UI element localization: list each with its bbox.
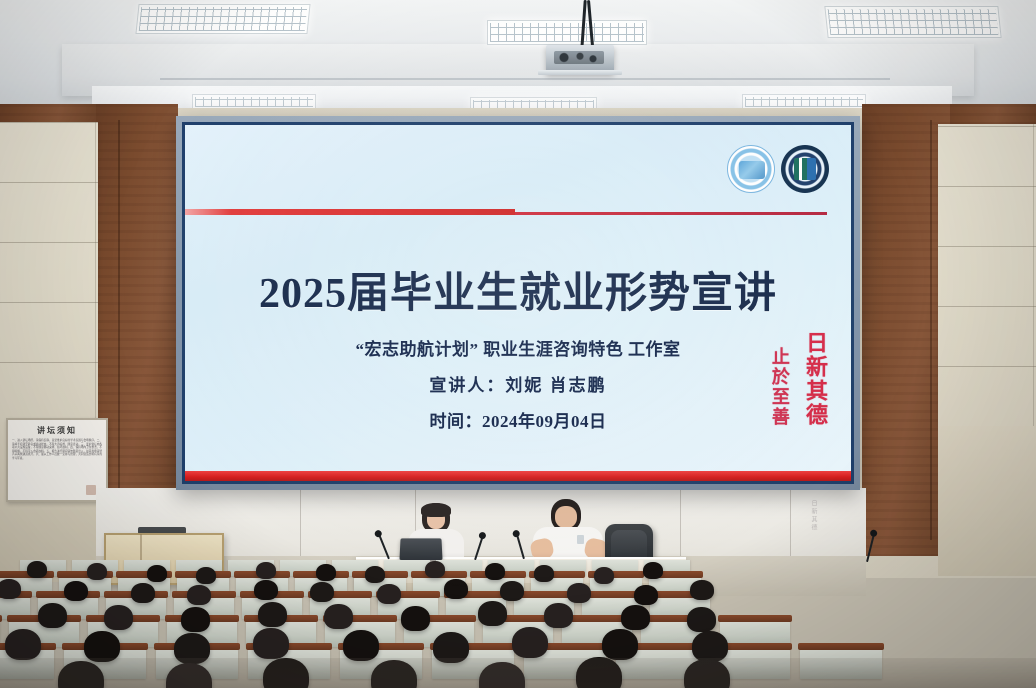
notice-seal-icon	[86, 485, 96, 495]
slide-subtitle-line-2: 宣讲人：刘妮 肖志鹏	[185, 371, 851, 396]
audience-member	[534, 565, 554, 582]
slide-footer-bar	[185, 471, 851, 481]
audience-member	[104, 605, 133, 630]
audience-member	[544, 603, 573, 628]
slide-subtitle-line-1: “宏志助航计划” 职业生涯咨询特色 工作室	[185, 335, 851, 360]
audience-member	[512, 627, 548, 658]
audience-member	[444, 579, 468, 599]
wood-column-left	[96, 104, 178, 554]
wood-seam	[118, 120, 120, 540]
audience-member	[401, 606, 430, 631]
railway-institute-emblem-icon	[727, 145, 775, 193]
audience-member	[316, 564, 336, 581]
audience-member	[87, 563, 107, 580]
audience-member	[643, 562, 663, 579]
audience-member	[253, 628, 289, 659]
calligraphy-column-left: 止於至善	[768, 331, 791, 427]
wood-column-right	[862, 104, 950, 556]
projector-mount-plate	[538, 70, 622, 75]
audience-member	[38, 603, 67, 628]
audience-member	[594, 567, 614, 584]
audience-member	[254, 580, 278, 600]
slide-title: 2025届毕业生就业形势宣讲	[185, 259, 851, 320]
aisle-floor	[0, 658, 1036, 688]
lower-wall-right	[938, 426, 1036, 576]
projector	[546, 45, 614, 73]
calligraphy-column-right: 日新其德	[801, 331, 829, 427]
audience-member	[310, 582, 334, 602]
ceiling-light-fixture	[824, 6, 1001, 38]
audience-member	[690, 580, 714, 600]
east-china-jiaotong-university-emblem-icon	[781, 145, 829, 193]
audience-member	[365, 566, 385, 583]
slide-accent-rule-thin	[515, 212, 827, 215]
wood-seam	[930, 120, 932, 540]
wood-beam-left	[0, 104, 98, 122]
slide-calligraphy: 日新其德 止於至善	[768, 331, 829, 427]
audience-member	[478, 601, 507, 626]
wood-beam-right	[938, 104, 1036, 124]
audience-member	[147, 565, 167, 582]
name-badge	[577, 535, 584, 544]
audience-member	[485, 563, 505, 580]
audience-member	[131, 583, 155, 603]
acoustic-panel-right	[938, 124, 1036, 426]
acoustic-panel-left	[0, 122, 98, 422]
audience-member	[256, 562, 276, 579]
audience-member	[258, 602, 287, 627]
audience-member	[687, 607, 716, 632]
ceiling-light-fixture	[135, 4, 310, 34]
audience-member	[0, 579, 21, 599]
audience-member	[621, 605, 650, 630]
ceiling-light-fixture	[487, 20, 647, 45]
wall-notice-body: 一、进入讲坛场所，请保持安静，自觉维护良好的学术氛围与会场秩序。二、请将手机调至…	[8, 439, 106, 461]
ceiling-seam	[160, 78, 890, 80]
slide-surface: 2025届毕业生就业形势宣讲 “宏志助航计划” 职业生涯咨询特色 工作室 宣讲人…	[182, 122, 854, 484]
wall-notice-title: 讲坛须知	[8, 425, 106, 436]
slide-subtitle-group: “宏志助航计划” 职业生涯咨询特色 工作室 宣讲人：刘妮 肖志鹏 时间：2024…	[185, 335, 851, 432]
slide-accent-rule-thick	[185, 209, 515, 215]
audience-member	[196, 567, 216, 584]
audience-member	[567, 583, 591, 603]
audience-member	[64, 581, 88, 601]
projection-screen: 2025届毕业生就业形势宣讲 “宏志助航计划” 职业生涯咨询特色 工作室 宣讲人…	[176, 116, 860, 490]
audience-member	[181, 607, 210, 632]
slide-subtitle-line-3: 时间：2024年09月04日	[185, 407, 851, 432]
audience-member	[5, 629, 41, 660]
audience-member	[425, 561, 445, 578]
audience-member	[602, 629, 638, 660]
audience-member	[27, 561, 47, 578]
lecture-hall-photo: 讲坛须知 一、进入讲坛场所，请保持安静，自觉维护良好的学术氛围与会场秩序。二、请…	[0, 0, 1036, 688]
audience-member	[187, 585, 211, 605]
wall-notice-poster: 讲坛须知 一、进入讲坛场所，请保持安静，自觉维护良好的学术氛围与会场秩序。二、请…	[6, 418, 108, 502]
slide-logos	[727, 145, 829, 193]
audience-member	[377, 584, 401, 604]
presenter-right	[533, 499, 603, 565]
ceiling	[0, 0, 1036, 112]
laptop	[399, 538, 442, 560]
audience-member	[500, 581, 524, 601]
audience-member	[634, 585, 658, 605]
wall-faint-calligraphy: 日新其德	[765, 500, 817, 544]
audience-member	[343, 630, 379, 661]
audience-member	[324, 604, 353, 629]
